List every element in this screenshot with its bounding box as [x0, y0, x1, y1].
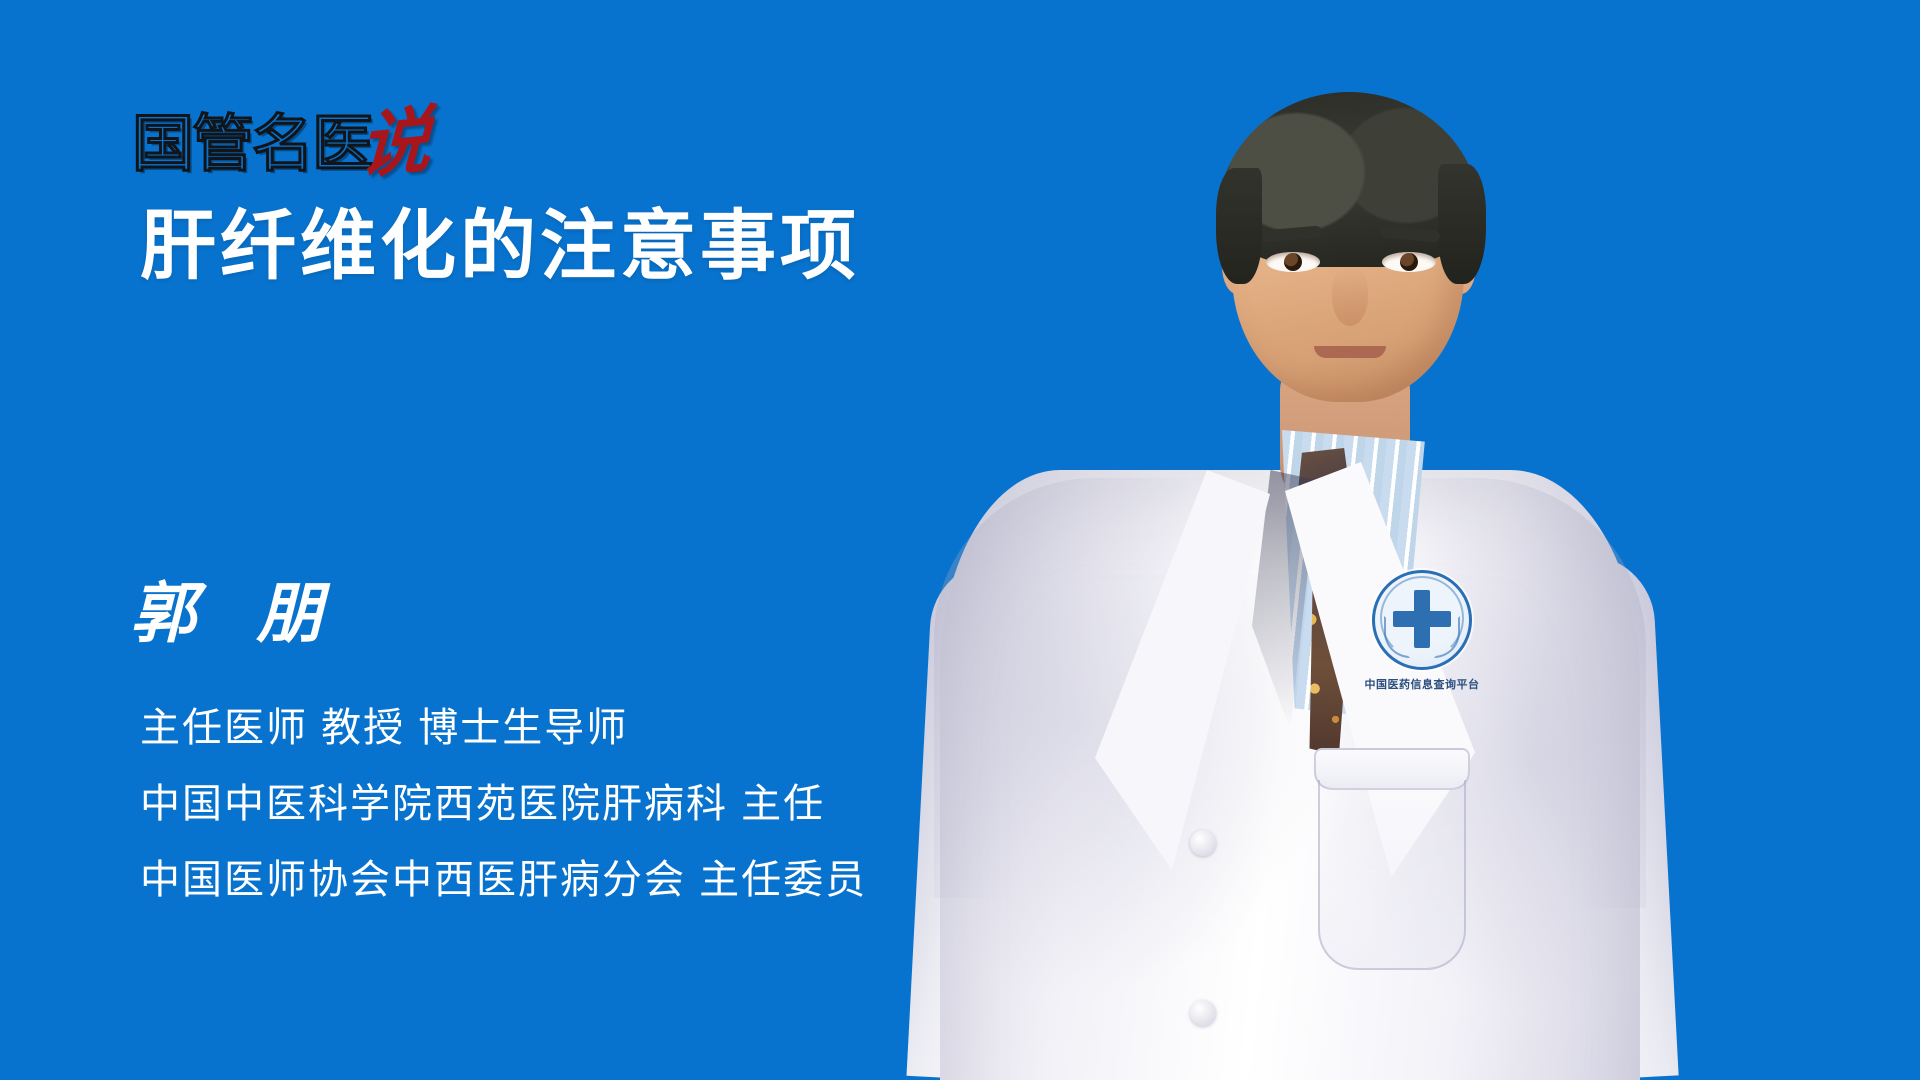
coat-chest-pocket [1318, 780, 1466, 970]
coat-button [1190, 830, 1216, 856]
coat-button [1190, 1000, 1216, 1026]
medical-cross-icon [1393, 611, 1451, 627]
speaker-credentials: 主任医师 教授 博士生导师 中国中医科学院西苑医院肝病科 主任 中国医师协会中西… [140, 705, 867, 903]
right-pupil [1400, 253, 1418, 271]
mouth [1314, 346, 1386, 358]
credential-line: 中国医师协会中西医肝病分会 主任委员 [140, 857, 867, 903]
credential-line: 主任医师 教授 博士生导师 [140, 705, 867, 751]
hair-right-side [1438, 164, 1486, 284]
right-eye [1382, 252, 1436, 272]
hair-left-side [1216, 168, 1262, 284]
nose [1332, 268, 1368, 326]
speaker-name: 郭 朋 [130, 560, 345, 656]
left-eye [1266, 252, 1320, 272]
credential-line: 中国中医科学院西苑医院肝病科 主任 [140, 781, 867, 827]
badge-label: 中国医药信息查询平台 [1350, 676, 1494, 692]
left-pupil [1284, 253, 1302, 271]
speaker-portrait-photo: 中国医药信息查询平台 [880, 0, 1920, 1080]
program-logo-main-text: 国管名医 [132, 114, 372, 176]
program-logo: 国管名医 说 [132, 96, 430, 176]
video-title-slide: 国管名医 说 肝纤维化的注意事项 郭 朋 主任医师 教授 博士生导师 中国中医科… [0, 0, 1920, 1080]
page-title: 肝纤维化的注意事项 [140, 205, 860, 289]
hospital-badge-emblem: 中国医药信息查询平台 [1372, 570, 1472, 670]
program-logo-accent-text: 说 [358, 105, 432, 182]
